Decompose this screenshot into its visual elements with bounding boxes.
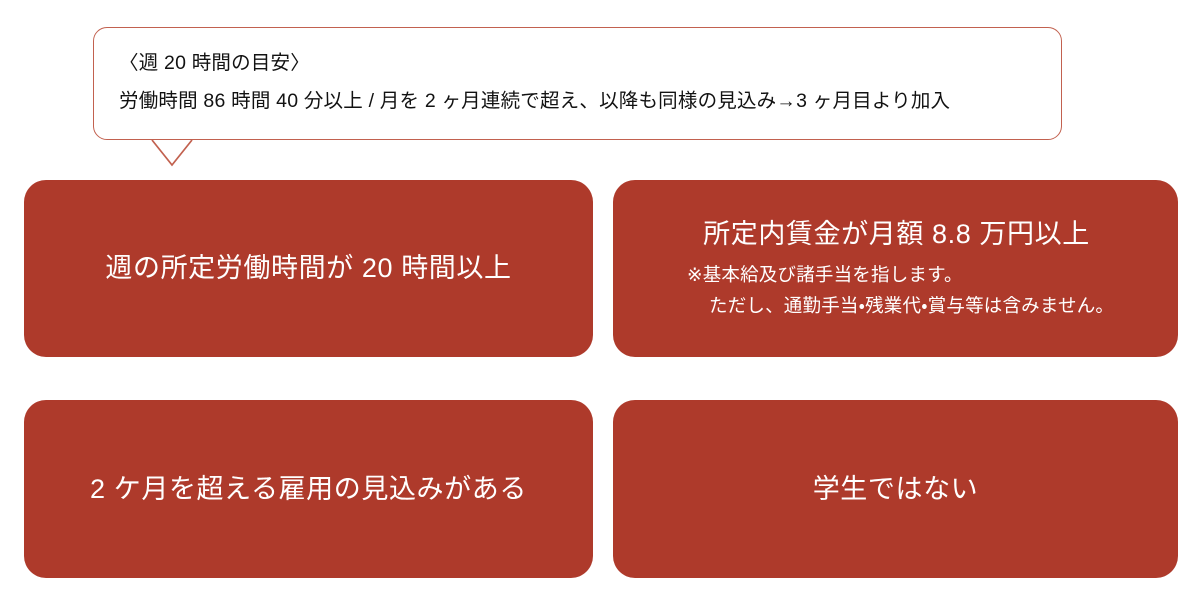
callout-text-block: 〈週 20 時間の目安〉 労働時間 86 時間 40 分以上 / 月を 2 ヶ月…	[119, 44, 1051, 120]
condition-box-monthly-wage[interactable]: 所定内賃金が月額 8.8 万円以上 ※基本給及び諸手当を指します。 ただし、通勤…	[613, 180, 1178, 357]
condition-box-not-student[interactable]: 学生ではない	[613, 400, 1178, 578]
condition-title-monthly-wage: 所定内賃金が月額 8.8 万円以上	[629, 216, 1164, 252]
condition-title-not-student: 学生ではない	[813, 471, 979, 507]
condition-box-employment-duration[interactable]: 2 ケ月を超える雇用の見込みがある	[24, 400, 593, 578]
condition-box-weekly-hours[interactable]: 週の所定労働時間が 20 時間以上	[24, 180, 593, 357]
condition-note-monthly-wage-1: ※基本給及び諸手当を指します。	[687, 259, 1164, 290]
callout-line-2: 労働時間 86 時間 40 分以上 / 月を 2 ヶ月連続で超え、以降も同様の見…	[119, 82, 1051, 120]
callout-line-1: 〈週 20 時間の目安〉	[119, 44, 1051, 82]
callout-tail-pointer-icon	[140, 128, 210, 176]
guideline-callout: 〈週 20 時間の目安〉 労働時間 86 時間 40 分以上 / 月を 2 ヶ月…	[93, 27, 1062, 140]
diagram-canvas: 〈週 20 時間の目安〉 労働時間 86 時間 40 分以上 / 月を 2 ヶ月…	[0, 0, 1200, 604]
condition-title-employment-duration: 2 ケ月を超える雇用の見込みがある	[90, 471, 527, 507]
condition-title-weekly-hours: 週の所定労働時間が 20 時間以上	[105, 250, 511, 286]
condition-note-monthly-wage-2: ただし、通勤手当・残業代・賞与等は含みません。	[709, 290, 1164, 321]
